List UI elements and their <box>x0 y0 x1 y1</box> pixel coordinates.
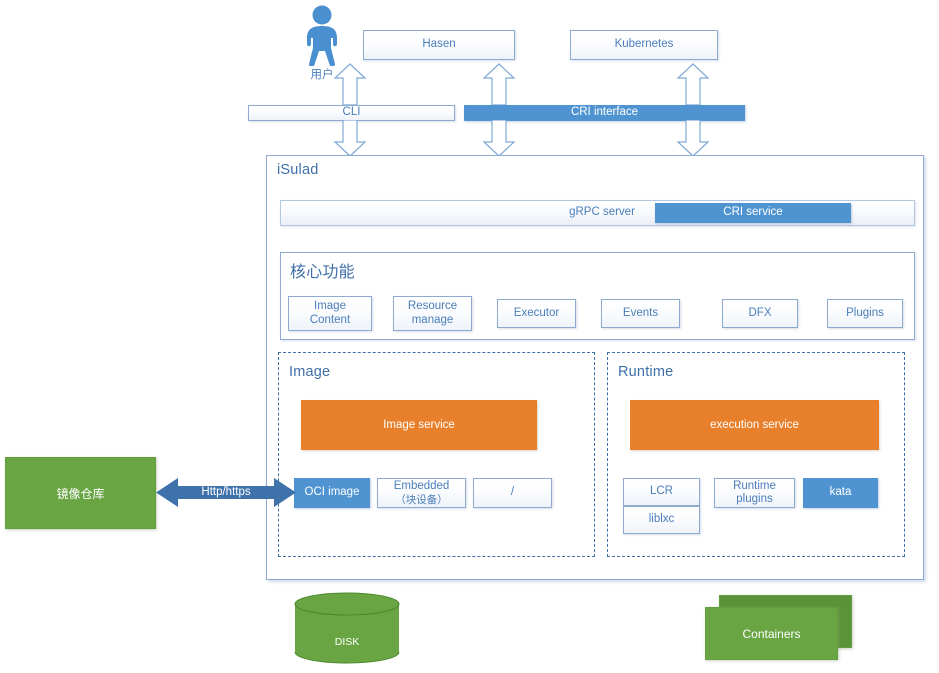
user-person-icon <box>296 4 348 66</box>
interface-bar-cri[interactable]: CRI interface <box>464 105 745 121</box>
arrow-up-cli <box>333 62 367 106</box>
execution-service-bar[interactable]: execution service <box>630 400 879 450</box>
core-module-events-label: Events <box>623 307 658 320</box>
core-module-resource-manage-line2: manage <box>412 314 454 327</box>
core-module-executor-label: Executor <box>514 307 559 320</box>
image-registry-label: 镜像仓库 <box>56 485 104 502</box>
runtime-backend-liblxc-label: liblxc <box>649 513 675 526</box>
image-service-bar[interactable]: Image service <box>301 400 537 450</box>
runtime-backend-runtime-plugins[interactable]: Runtime plugins <box>714 478 795 508</box>
core-module-executor[interactable]: Executor <box>497 299 576 328</box>
image-backend-embedded[interactable]: Embedded （块设备） <box>377 478 466 508</box>
image-service-label: Image service <box>383 419 455 431</box>
runtime-backend-liblxc[interactable]: liblxc <box>623 506 700 534</box>
image-backend-oci-image-label: OCI image <box>305 486 360 499</box>
core-module-resource-manage[interactable]: Resource manage <box>393 296 472 331</box>
runtime-backend-kata-label: kata <box>830 486 852 499</box>
client-box-kubernetes[interactable]: Kubernetes <box>570 30 718 60</box>
runtime-backend-kata[interactable]: kata <box>803 478 878 508</box>
core-module-resource-manage-line1: Resource <box>408 300 457 313</box>
runtime-backend-runtime-plugins-line1: Runtime <box>733 480 776 493</box>
http-https-label: Http/https <box>186 486 266 498</box>
arrow-up-hasen-cri <box>482 62 516 106</box>
cri-service-box[interactable]: CRI service <box>655 203 851 223</box>
client-box-hasen[interactable]: Hasen <box>363 30 515 60</box>
arrow-down-cri-right <box>676 120 710 158</box>
core-functions-title: 核心功能 <box>290 258 355 282</box>
image-backend-oci-image[interactable]: OCI image <box>294 478 370 508</box>
core-module-events[interactable]: Events <box>601 299 680 328</box>
containers-box-front[interactable]: Containers <box>705 607 838 660</box>
image-group-title: Image <box>289 364 330 380</box>
client-label-kubernetes: Kubernetes <box>615 38 674 51</box>
image-backend-embedded-line2: （块设备） <box>395 494 448 506</box>
disk-label: DISK <box>294 636 400 648</box>
core-module-dfx[interactable]: DFX <box>722 299 798 328</box>
runtime-backend-runtime-plugins-line2: plugins <box>736 493 772 506</box>
core-functions-panel <box>280 252 915 340</box>
interface-bar-cli[interactable]: CLI <box>248 105 455 121</box>
runtime-backend-lcr-label: LCR <box>650 485 673 498</box>
containers-label: Containers <box>742 627 800 641</box>
image-backend-slash-label: / <box>511 486 514 499</box>
core-module-image-content-line1: Image <box>314 300 346 313</box>
execution-service-label: execution service <box>710 419 799 431</box>
image-group-panel <box>278 352 595 557</box>
grpc-server-label: gRPC server <box>557 206 647 218</box>
runtime-backend-lcr[interactable]: LCR <box>623 478 700 506</box>
core-module-plugins-label: Plugins <box>846 307 884 320</box>
arrow-down-cli <box>333 120 367 158</box>
core-module-image-content[interactable]: Image Content <box>288 296 372 331</box>
arrow-up-kubernetes-cri <box>676 62 710 106</box>
core-module-plugins[interactable]: Plugins <box>827 299 903 328</box>
core-module-image-content-line2: Content <box>310 314 350 327</box>
arrow-down-cri-left <box>482 120 516 158</box>
interface-label-cli: CLI <box>343 106 361 119</box>
client-label-hasen: Hasen <box>422 38 455 51</box>
cri-service-label: CRI service <box>723 206 782 219</box>
image-backend-slash[interactable]: / <box>473 478 552 508</box>
core-module-dfx-label: DFX <box>749 307 772 320</box>
interface-label-cri: CRI interface <box>571 106 638 119</box>
image-backend-embedded-line1: Embedded <box>394 480 450 493</box>
image-registry-box[interactable]: 镜像仓库 <box>5 457 156 529</box>
isulad-panel-title: iSulad <box>277 162 319 178</box>
disk-cylinder <box>294 592 400 664</box>
runtime-group-title: Runtime <box>618 364 673 380</box>
